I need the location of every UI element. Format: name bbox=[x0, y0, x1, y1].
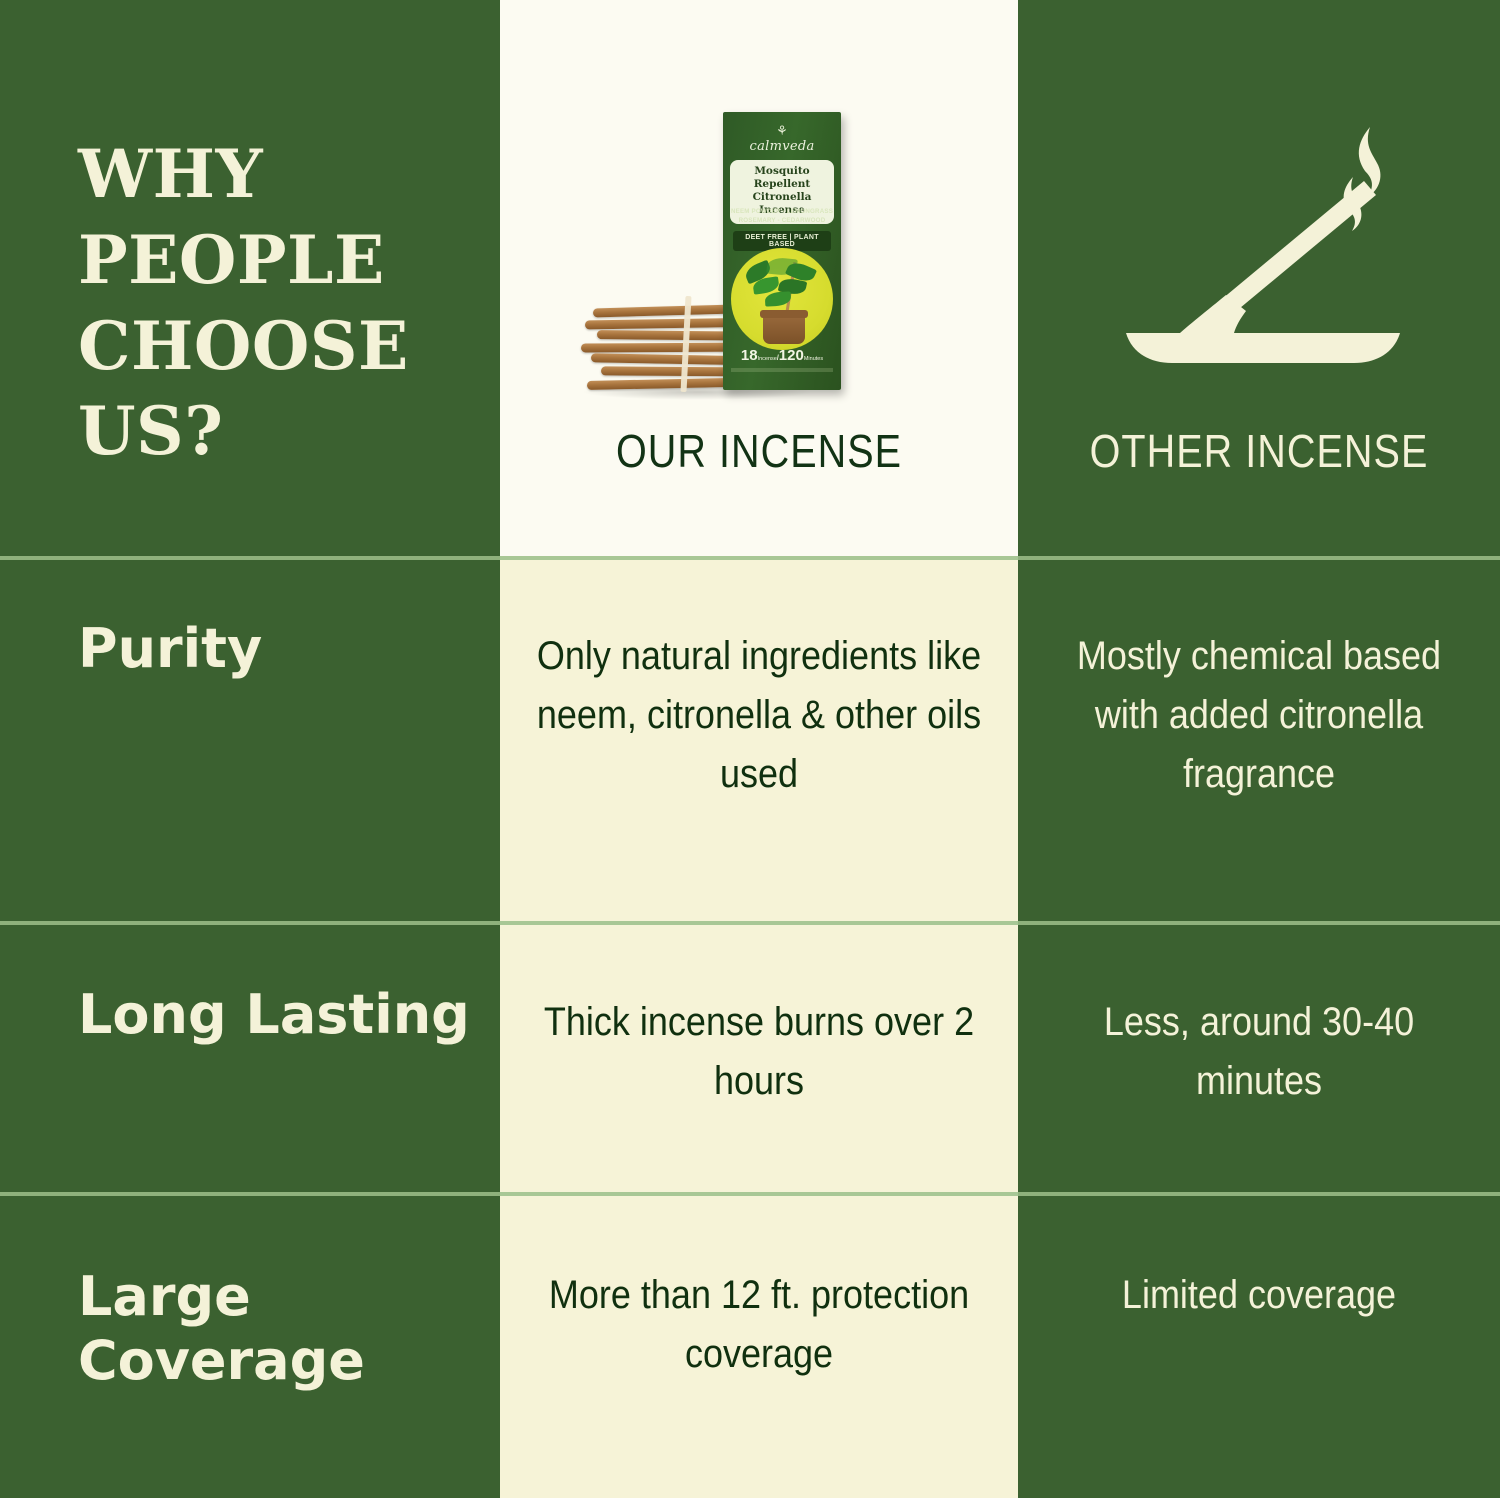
comparison-infographic: Why People Choose Us? ⚘ calmveda Mosquit… bbox=[0, 0, 1500, 1498]
our-incense-label: OUR INCENSE bbox=[536, 424, 981, 478]
header-cell-ours: OUR INCENSE bbox=[500, 0, 1018, 558]
row-label-long-lasting: Long Lasting bbox=[78, 983, 478, 1047]
cell-other-long-lasting: Less, around 30-40 minutes bbox=[1053, 993, 1465, 1111]
other-incense-label: OTHER INCENSE bbox=[1052, 424, 1467, 478]
cell-ours-purity: Only natural ingredients like neem, citr… bbox=[535, 627, 983, 805]
row-divider-2-middle bbox=[500, 921, 1018, 925]
page-title: Why People Choose Us? bbox=[78, 132, 478, 475]
row-label-large-coverage: Large Coverage bbox=[78, 1265, 478, 1392]
cell-ours-large-coverage: More than 12 ft. protection coverage bbox=[535, 1266, 983, 1384]
header-cell-other: OTHER INCENSE bbox=[1018, 0, 1500, 558]
row-label-purity: Purity bbox=[78, 617, 478, 681]
row-divider-3-middle bbox=[500, 1192, 1018, 1196]
cell-other-large-coverage: Limited coverage bbox=[1053, 1266, 1465, 1325]
cell-other-purity: Mostly chemical based with added citrone… bbox=[1053, 627, 1465, 805]
cell-ours-long-lasting: Thick incense burns over 2 hours bbox=[535, 993, 983, 1111]
